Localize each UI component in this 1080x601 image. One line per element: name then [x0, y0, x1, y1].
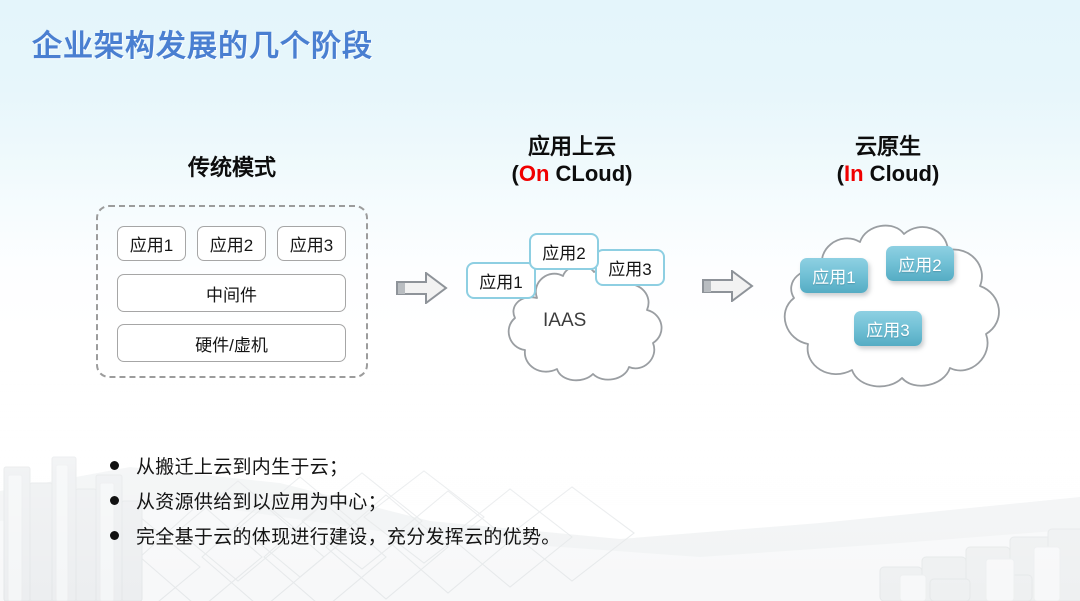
cloudnative-app-1[interactable]: 应用1: [800, 258, 868, 293]
bullet-dot-icon: [110, 531, 119, 540]
panel-title-cloudnative: 云原生 (In Cloud): [788, 134, 988, 187]
iaas-cloud-label: IAAS: [543, 310, 586, 332]
bullet-list: 从搬迁上云到内生于云； 从资源供给到以应用为中心； 完全基于云的体现进行建设，充…: [110, 452, 750, 557]
cloudnative-word-cloud: Cloud): [864, 161, 940, 186]
slide-canvas: 企业架构发展的几个阶段 传统模式 应用1 应用2 应用3 中间件 硬件/虚机 应…: [0, 0, 1080, 601]
page-title: 企业架构发展的几个阶段: [32, 21, 373, 65]
oncloud-keyword-on: On: [519, 161, 550, 186]
list-item: 从资源供给到以应用为中心；: [110, 487, 750, 522]
traditional-app-2-label: 应用2: [210, 231, 253, 256]
list-item: 从搬迁上云到内生于云；: [110, 452, 750, 487]
panel-title-cloudnative-cn: 云原生: [788, 134, 988, 160]
oncloud-app-1[interactable]: 应用1: [466, 262, 536, 299]
traditional-app-1-label: 应用1: [130, 231, 173, 256]
arrow-oncloud-to-cloudnative-icon: [702, 270, 754, 302]
oncloud-app-2-label: 应用2: [542, 239, 585, 264]
oncloud-app-2[interactable]: 应用2: [529, 233, 599, 270]
oncloud-app-3[interactable]: 应用3: [595, 249, 665, 286]
cloudnative-app-3[interactable]: 应用3: [854, 311, 922, 346]
cloudnative-app-1-label: 应用1: [812, 263, 855, 288]
traditional-infrastructure-layer[interactable]: 硬件/虚机: [117, 324, 346, 362]
bullet-text-2: 从资源供给到以应用为中心；: [136, 487, 387, 514]
panel-title-oncloud: 应用上云 (On CLoud): [472, 134, 672, 187]
traditional-app-3[interactable]: 应用3: [277, 226, 346, 261]
panel-title-traditional: 传统模式: [132, 155, 332, 181]
arrow-traditional-to-oncloud-icon: [396, 272, 448, 304]
bullet-dot-icon: [110, 461, 119, 470]
bullet-dot-icon: [110, 496, 119, 505]
traditional-app-2[interactable]: 应用2: [197, 226, 266, 261]
panel-title-oncloud-en: (On CLoud): [472, 160, 672, 187]
oncloud-word-cloud: CLoud): [549, 161, 632, 186]
traditional-middleware-layer[interactable]: 中间件: [117, 274, 346, 312]
traditional-infrastructure-label: 硬件/虚机: [195, 331, 268, 356]
cloudnative-paren-open: (: [837, 161, 844, 186]
panel-title-cloudnative-en: (In Cloud): [788, 160, 988, 187]
cloudnative-app-3-label: 应用3: [866, 316, 909, 341]
panel-title-oncloud-cn: 应用上云: [472, 134, 672, 160]
cloudnative-app-2[interactable]: 应用2: [886, 246, 954, 281]
bullet-text-3: 完全基于云的体现进行建设，充分发挥云的优势。: [136, 522, 561, 549]
bullet-text-1: 从搬迁上云到内生于云；: [136, 452, 348, 479]
list-item: 完全基于云的体现进行建设，充分发挥云的优势。: [110, 522, 750, 557]
cloudnative-keyword-in: In: [844, 161, 864, 186]
traditional-middleware-label: 中间件: [206, 281, 257, 306]
oncloud-app-1-label: 应用1: [479, 268, 522, 293]
oncloud-paren-open: (: [512, 161, 519, 186]
traditional-app-1[interactable]: 应用1: [117, 226, 186, 261]
oncloud-app-3-label: 应用3: [608, 255, 651, 280]
cloudnative-cloud-shape: [762, 216, 1014, 397]
panel-title-traditional-cn: 传统模式: [132, 155, 332, 181]
cloudnative-app-2-label: 应用2: [898, 251, 941, 276]
traditional-app-3-label: 应用3: [290, 231, 333, 256]
